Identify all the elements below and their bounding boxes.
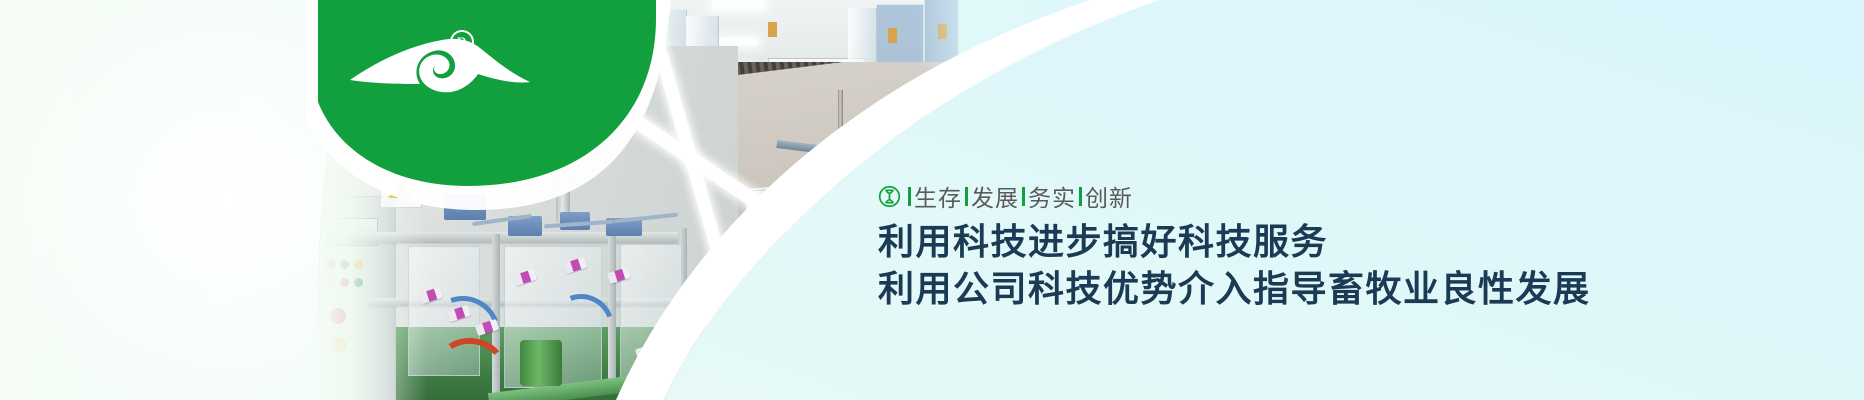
tagline-word-0: 生存 bbox=[914, 179, 962, 213]
tagline-separator-1 bbox=[965, 187, 968, 206]
hero-banner: R 生存 发展 务实 创新 利用科技进步搞好科技服务 利用公司科技优势介入指导畜… bbox=[0, 0, 1864, 400]
headline-line-1: 利用科技进步搞好科技服务 bbox=[878, 218, 1591, 265]
tagline-separator-2 bbox=[1022, 187, 1025, 206]
tagline-word-2: 务实 bbox=[1028, 179, 1076, 213]
tagline-word-1: 发展 bbox=[971, 179, 1019, 213]
green-circle-figure-icon bbox=[878, 185, 901, 208]
svg-text:R: R bbox=[457, 35, 468, 52]
headline-line-2: 利用公司科技优势介入指导畜牧业良性发展 bbox=[878, 265, 1591, 312]
banner-text-panel: 生存 发展 务实 创新 利用科技进步搞好科技服务 利用公司科技优势介入指导畜牧业… bbox=[878, 0, 1738, 400]
tagline: 生存 发展 务实 创新 bbox=[878, 181, 1133, 211]
tagline-separator-0 bbox=[908, 187, 911, 206]
tagline-word-3: 创新 bbox=[1085, 179, 1133, 213]
tagline-separator-3 bbox=[1079, 187, 1082, 206]
headline: 利用科技进步搞好科技服务 利用公司科技优势介入指导畜牧业良性发展 bbox=[878, 218, 1591, 312]
